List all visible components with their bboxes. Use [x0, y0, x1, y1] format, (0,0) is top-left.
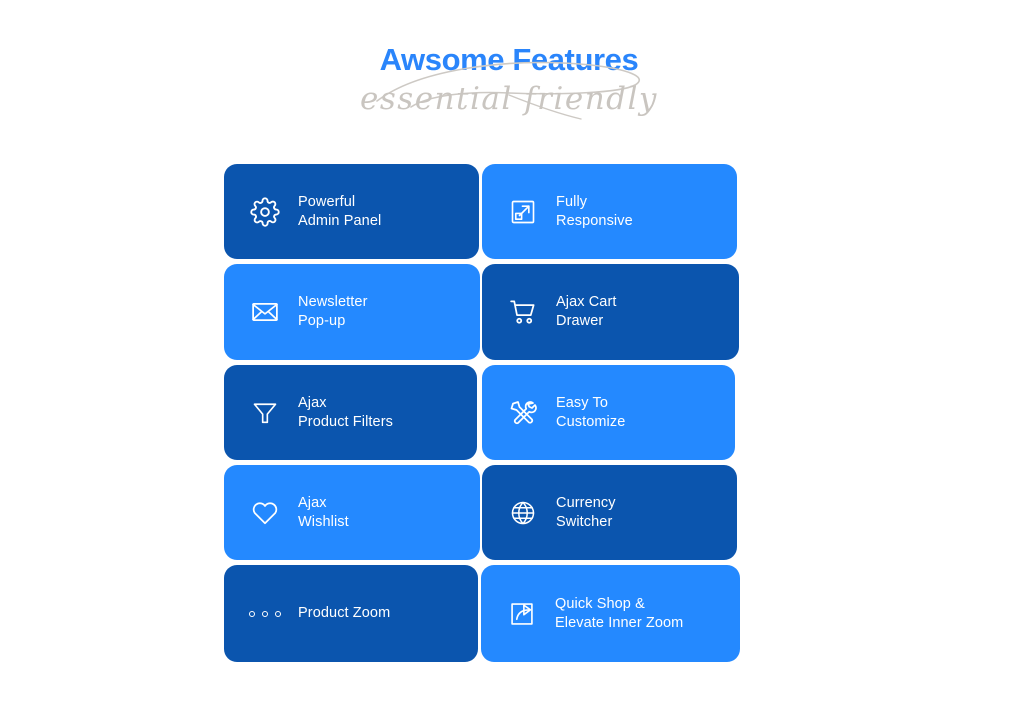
feature-card-fully-responsive[interactable]: Fully Responsive [482, 164, 737, 259]
three-dots-icon [248, 597, 282, 631]
features-grid: Powerful Admin Panel Fully Responsive [224, 164, 744, 667]
feature-card-ajax-product-filters[interactable]: Ajax Product Filters [224, 365, 477, 460]
feature-label: Powerful Admin Panel [298, 193, 381, 231]
feature-label: Quick Shop & Elevate Inner Zoom [555, 595, 683, 633]
funnel-filter-icon [248, 396, 282, 430]
feature-label: Ajax Cart Drawer [556, 293, 617, 331]
feature-label: Fully Responsive [556, 193, 633, 231]
feature-label: Product Zoom [298, 604, 390, 623]
feature-card-quick-shop-elevate-inner-zoom[interactable]: Quick Shop & Elevate Inner Zoom [481, 565, 740, 662]
feature-card-product-zoom[interactable]: Product Zoom [224, 565, 478, 662]
dot-icon [262, 611, 268, 617]
features-row: Powerful Admin Panel Fully Responsive [224, 164, 744, 259]
feature-card-powerful-admin-panel[interactable]: Powerful Admin Panel [224, 164, 479, 259]
subtitle-wrapper: essential friendly [0, 77, 1018, 129]
page-title: Awsome Features [0, 44, 1018, 75]
dot-icon [275, 611, 281, 617]
features-row: Product Zoom Quick Shop & Elevate Inner … [224, 565, 744, 662]
page-header: Awsome Features essential friendly [0, 44, 1018, 129]
wrench-screwdriver-icon [506, 396, 540, 430]
feature-label: Easy To Customize [556, 394, 625, 432]
feature-label: Newsletter Pop-up [298, 293, 368, 331]
feature-card-ajax-wishlist[interactable]: Ajax Wishlist [224, 465, 480, 560]
feature-card-ajax-cart-drawer[interactable]: Ajax Cart Drawer [482, 264, 739, 360]
feature-label: Ajax Product Filters [298, 394, 393, 432]
feature-card-currency-switcher[interactable]: Currency Switcher [482, 465, 737, 560]
envelope-icon [248, 295, 282, 329]
page-subtitle: essential friendly [0, 77, 1018, 121]
feature-card-easy-to-customize[interactable]: Easy To Customize [482, 365, 735, 460]
gear-icon [248, 195, 282, 229]
dot-icon [249, 611, 255, 617]
expand-arrow-icon [506, 195, 540, 229]
feature-label: Currency Switcher [556, 494, 616, 532]
feature-label: Ajax Wishlist [298, 494, 349, 532]
features-row: Ajax Product Filters Easy To Customize [224, 365, 744, 460]
features-row: Newsletter Pop-up Ajax Cart Drawer [224, 264, 744, 360]
globe-icon [506, 496, 540, 530]
share-export-icon [505, 597, 539, 631]
features-row: Ajax Wishlist Currency Switcher [224, 465, 744, 560]
shopping-cart-icon [506, 295, 540, 329]
heart-icon [248, 496, 282, 530]
feature-card-newsletter-popup[interactable]: Newsletter Pop-up [224, 264, 480, 360]
